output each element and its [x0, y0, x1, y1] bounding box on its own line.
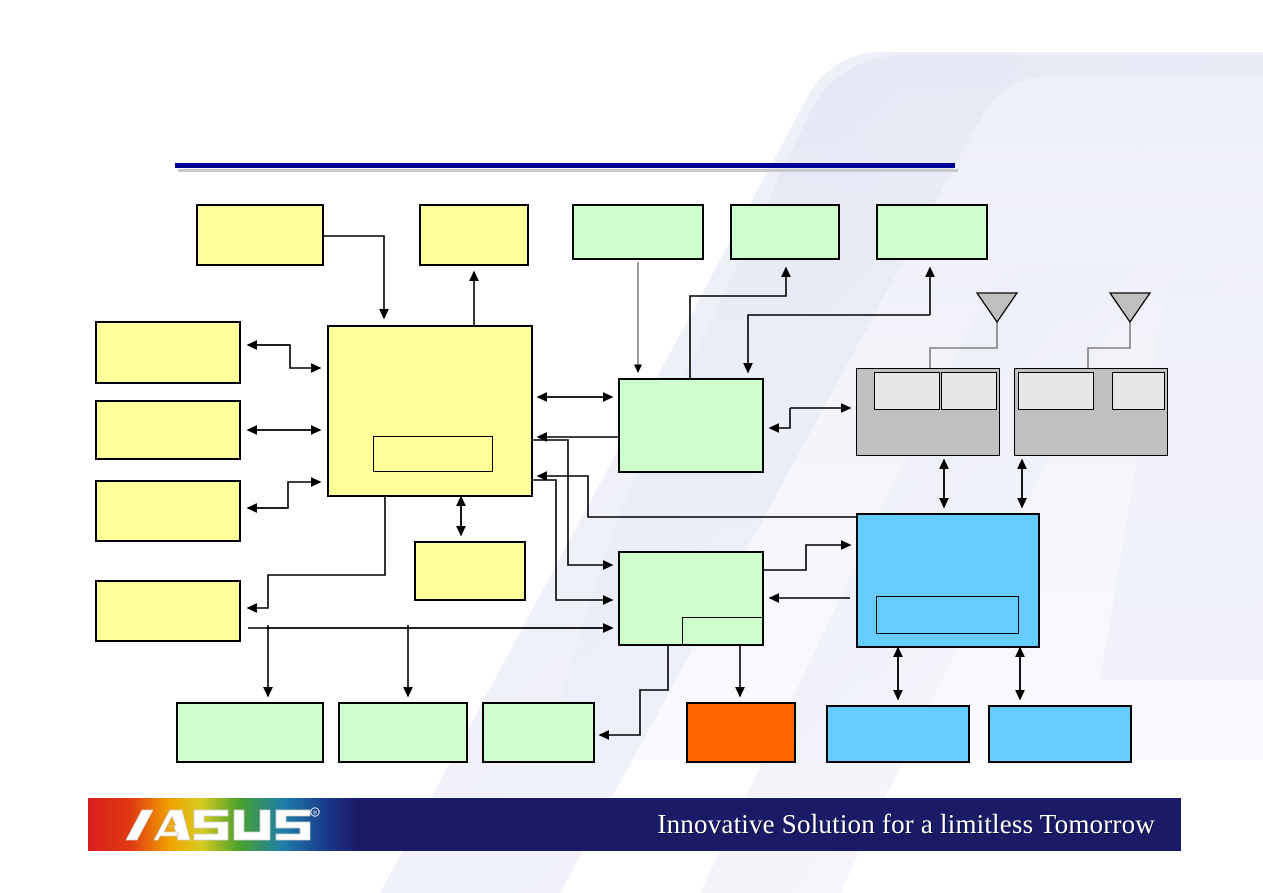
rf-module-right-sub-2: [1112, 372, 1165, 410]
rf-module-left[interactable]: [856, 368, 1000, 456]
rf-module-right-sub-1: [1018, 372, 1094, 410]
rf-module-left-sub-1: [874, 372, 940, 410]
rf-module-right[interactable]: [1014, 368, 1168, 456]
rf-module-left-sub-2: [941, 372, 997, 410]
block-blue-bottom-2[interactable]: [988, 705, 1132, 763]
footer-banner: ® Innovative Solution for a limitless To…: [88, 798, 1181, 851]
block-blue-main[interactable]: [856, 513, 1040, 648]
block-green-lower-mid[interactable]: [618, 551, 764, 646]
block-orange-bottom[interactable]: [686, 702, 796, 763]
asus-logo: ®: [120, 806, 320, 844]
block-yellow-top-mid[interactable]: [419, 204, 529, 266]
block-blue-main-inner: [876, 596, 1019, 634]
block-yellow-main-inner: [373, 436, 493, 472]
block-yellow-left-3[interactable]: [95, 480, 241, 542]
block-green-top-3[interactable]: [876, 204, 988, 260]
slide-canvas: ® Innovative Solution for a limitless To…: [0, 0, 1263, 893]
title-rule: [175, 163, 955, 168]
antenna-icon-right: [1110, 293, 1150, 322]
block-green-bottom-2[interactable]: [338, 702, 468, 763]
block-yellow-main[interactable]: [327, 325, 533, 497]
block-green-bottom-1[interactable]: [176, 702, 324, 763]
block-green-top-2[interactable]: [730, 204, 840, 260]
block-green-upper-mid[interactable]: [618, 378, 764, 473]
title-rule-shadow: [178, 169, 958, 172]
block-yellow-left-4[interactable]: [95, 580, 241, 642]
footer-tagline: Innovative Solution for a limitless Tomo…: [657, 808, 1155, 839]
block-blue-bottom-1[interactable]: [826, 705, 970, 763]
block-yellow-left-1[interactable]: [95, 321, 241, 384]
block-yellow-below-main[interactable]: [414, 541, 526, 601]
block-green-lower-mid-inner: [682, 617, 764, 646]
block-green-top-1[interactable]: [572, 204, 704, 260]
block-green-bottom-3[interactable]: [482, 702, 595, 763]
block-yellow-left-2[interactable]: [95, 400, 241, 460]
antenna-icon-left: [977, 293, 1017, 322]
registered-mark: ®: [313, 810, 317, 817]
block-yellow-top-left[interactable]: [196, 204, 324, 266]
